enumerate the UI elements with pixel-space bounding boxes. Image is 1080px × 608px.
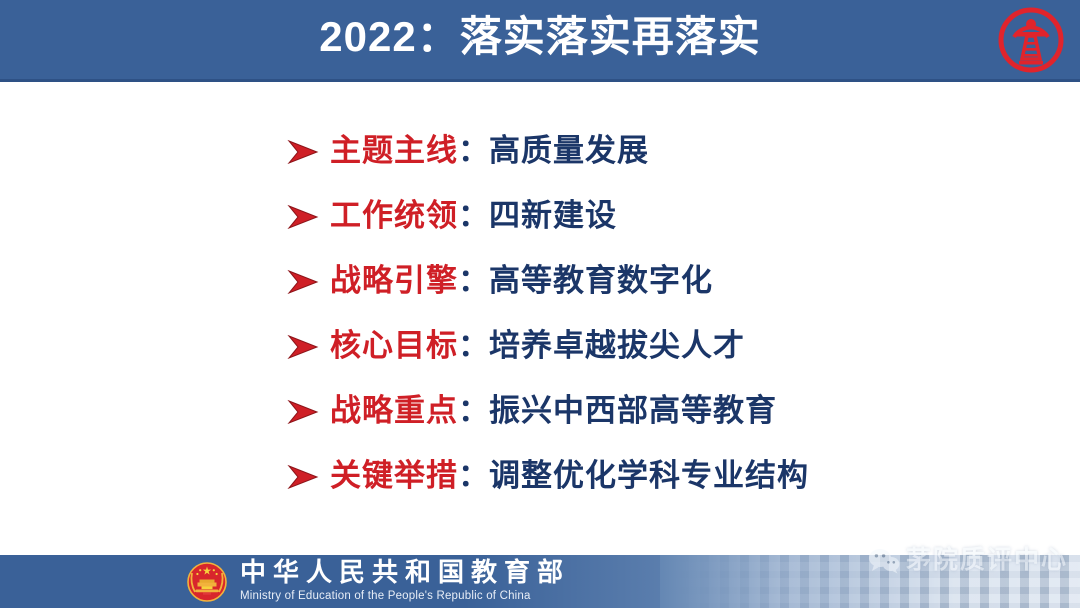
list-item-colon: ： — [458, 133, 489, 168]
list-item-detail: 培养卓越拔尖人才 — [489, 328, 745, 363]
slide-header: 2022：落实落实再落实 — [0, 0, 1080, 82]
list-item-colon: ： — [458, 263, 489, 298]
list-item-colon: ： — [458, 328, 489, 363]
bullet-list: 主题主线：高质量发展 工作统领：四新建设 战略引擎：高等教育数字化 — [286, 118, 1046, 508]
red-arrow-bullet-icon — [286, 137, 320, 167]
list-item-text: 关键举措：调整优化学科专业结构 — [330, 458, 809, 494]
list-item-term: 战略引擎 — [330, 263, 458, 298]
list-item-colon: ： — [458, 458, 489, 493]
photo-fade-overlay — [660, 555, 1080, 608]
list-item: 主题主线：高质量发展 — [286, 118, 1046, 183]
list-item-detail: 高等教育数字化 — [489, 263, 713, 298]
footer-org-name-en: Ministry of Education of the People's Re… — [240, 589, 570, 604]
red-arrow-bullet-icon — [286, 202, 320, 232]
list-item-term: 关键举措 — [330, 458, 458, 493]
list-item-detail: 调整优化学科专业结构 — [489, 458, 809, 493]
slide: 2022：落实落实再落实 主题主线：高质量发展 — [0, 0, 1080, 608]
list-item-detail: 四新建设 — [489, 198, 617, 233]
list-item: 关键举措：调整优化学科专业结构 — [286, 443, 1046, 508]
list-item-detail: 振兴中西部高等教育 — [489, 393, 777, 428]
list-item: 核心目标：培养卓越拔尖人才 — [286, 313, 1046, 378]
list-item-text: 战略重点：振兴中西部高等教育 — [330, 393, 777, 429]
red-arrow-bullet-icon — [286, 462, 320, 492]
list-item-text: 工作统领：四新建设 — [330, 198, 617, 234]
red-arrow-bullet-icon — [286, 267, 320, 297]
footer-org-block: 中华人民共和国教育部 Ministry of Education of the … — [240, 558, 570, 604]
red-arrow-bullet-icon — [286, 332, 320, 362]
list-item: 战略重点：振兴中西部高等教育 — [286, 378, 1046, 443]
list-item: 工作统领：四新建设 — [286, 183, 1046, 248]
list-item-text: 主题主线：高质量发展 — [330, 133, 649, 169]
list-item-term: 核心目标 — [330, 328, 458, 363]
list-item-detail: 高质量发展 — [489, 133, 649, 168]
slide-footer: 中华人民共和国教育部 Ministry of Education of the … — [0, 555, 1080, 608]
tower-emblem-icon — [998, 7, 1064, 73]
list-item-term: 战略重点 — [330, 393, 458, 428]
list-item: 战略引擎：高等教育数字化 — [286, 248, 1046, 313]
list-item-colon: ： — [458, 198, 489, 233]
list-item-colon: ： — [458, 393, 489, 428]
list-item-term: 工作统领 — [330, 198, 458, 233]
red-arrow-bullet-icon — [286, 397, 320, 427]
page-title: 2022：落实落实再落实 — [0, 9, 1080, 65]
list-item-term: 主题主线 — [330, 133, 458, 168]
china-national-emblem-icon — [186, 561, 228, 603]
list-item-text: 核心目标：培养卓越拔尖人才 — [330, 328, 745, 364]
list-item-text: 战略引擎：高等教育数字化 — [330, 263, 713, 299]
footer-org-name-cn: 中华人民共和国教育部 — [240, 558, 570, 588]
